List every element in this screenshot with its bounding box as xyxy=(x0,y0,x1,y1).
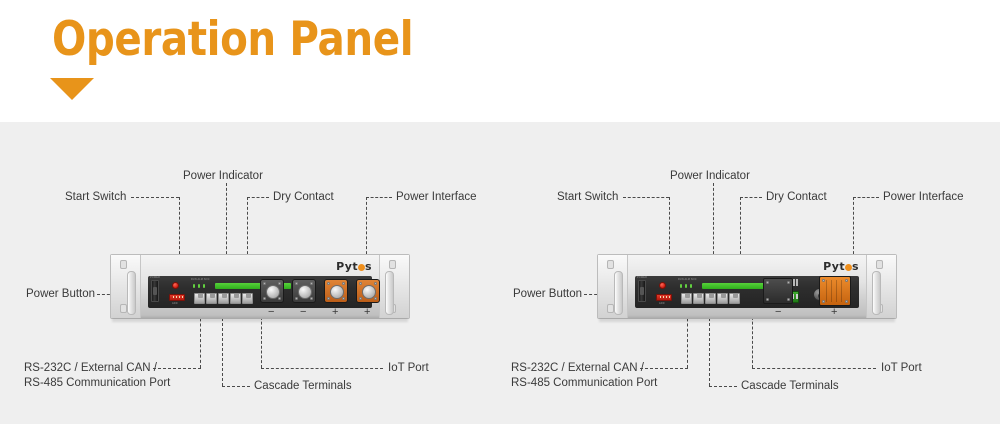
leader-power-indicator-v xyxy=(713,183,714,259)
micro-label-address: ADD xyxy=(659,302,665,305)
ear-hole-bottom xyxy=(120,304,127,313)
polarity-mark-1: − xyxy=(775,306,781,318)
ear-hole-top xyxy=(607,260,614,269)
leader-dry-contact xyxy=(740,197,762,198)
label-power-button: Power Button xyxy=(513,287,582,301)
micro-label-status: RUN ALM SOC xyxy=(678,278,697,281)
triangle-down-icon xyxy=(50,78,94,100)
operation-panel-page: Operation Panel Start Switch Power Indic… xyxy=(0,0,1000,424)
leader-power-interface xyxy=(366,197,392,198)
micro-label-address: ADD xyxy=(172,302,178,305)
start-switch[interactable] xyxy=(172,282,179,289)
communication-port-group[interactable] xyxy=(681,293,740,304)
leader-comm-port xyxy=(153,368,201,369)
power-terminal-positive-2[interactable] xyxy=(356,279,380,303)
label-cascade-terminals: Cascade Terminals xyxy=(741,379,839,393)
leader-power-indicator-v xyxy=(226,183,227,259)
power-button[interactable] xyxy=(638,280,646,302)
leader-power-interface-v xyxy=(853,197,854,259)
device-chassis-left: Pyts POWER RUN ALM SOC xyxy=(110,254,410,319)
rack-ear-left xyxy=(111,255,141,318)
label-dry-contact: Dry Contact xyxy=(273,190,334,204)
rj45-rs485-port[interactable] xyxy=(705,293,716,304)
diagram-area: Start Switch Power Indicator Dry Contact… xyxy=(0,122,1000,424)
label-start-switch: Start Switch xyxy=(557,190,618,204)
chassis-shadow xyxy=(599,317,895,322)
start-switch[interactable] xyxy=(659,282,666,289)
leader-start-switch-v xyxy=(669,197,670,259)
polarity-mark-1: − xyxy=(268,306,274,318)
leader-dry-contact-v xyxy=(740,197,741,259)
led-alarm-icon xyxy=(685,284,687,288)
brand-logo: Pyts xyxy=(336,260,372,273)
label-comm-port-line2: RS-485 Communication Port xyxy=(511,376,657,391)
power-terminal-positive-1[interactable] xyxy=(324,279,348,303)
micro-label-power: POWER xyxy=(637,276,647,279)
rj45-tx-port[interactable] xyxy=(693,293,704,304)
cascade-terminal-negative-1[interactable] xyxy=(260,279,284,303)
ear-hole-top xyxy=(120,260,127,269)
leader-start-switch-v xyxy=(179,197,180,259)
label-iot-port: IoT Port xyxy=(881,361,922,375)
rj45-int-port[interactable] xyxy=(230,293,241,304)
label-power-button: Power Button xyxy=(26,287,95,301)
leader-dry-contact-v xyxy=(247,197,248,259)
rj45-console-port[interactable] xyxy=(194,293,205,304)
cascade-terminal-negative-2[interactable] xyxy=(292,279,316,303)
brand-text: Pyt xyxy=(336,260,358,273)
cascade-terminal-negative[interactable] xyxy=(763,278,793,304)
polarity-mark-4: + xyxy=(364,306,370,318)
rack-handle-right[interactable] xyxy=(872,271,881,315)
brand-text: Pyt xyxy=(823,260,845,273)
power-rocker xyxy=(153,287,157,295)
leader-comm-port xyxy=(640,368,688,369)
led-run-icon xyxy=(193,284,195,288)
address-dip-switch[interactable] xyxy=(656,294,672,301)
label-iot-port: IoT Port xyxy=(388,361,429,375)
rj45-rs485-port[interactable] xyxy=(218,293,229,304)
device-diagram-left: Start Switch Power Indicator Dry Contact… xyxy=(0,122,500,424)
ear-hole-bottom xyxy=(607,304,614,313)
communication-port-group[interactable] xyxy=(194,293,253,304)
polarity-mark-2: + xyxy=(831,306,837,318)
rack-handle-left[interactable] xyxy=(614,271,623,315)
label-power-interface: Power Interface xyxy=(883,190,964,204)
label-comm-port-line2: RS-485 Communication Port xyxy=(24,376,170,391)
led-alarm-icon xyxy=(198,284,200,288)
rack-ear-right xyxy=(379,255,409,318)
brand-text-tail: s xyxy=(852,260,859,273)
label-power-interface: Power Interface xyxy=(396,190,477,204)
device-chassis-right: Pyts POWER RUN ALM SOC ADD xyxy=(597,254,897,319)
address-dip-switch[interactable] xyxy=(169,294,185,301)
ear-hole-top xyxy=(389,260,396,269)
rj45-can-port[interactable] xyxy=(729,293,740,304)
label-comm-port-line1: RS-232C / External CAN / xyxy=(24,361,157,376)
label-power-indicator: Power Indicator xyxy=(183,169,263,183)
power-button[interactable] xyxy=(151,280,159,302)
rack-handle-left[interactable] xyxy=(127,271,136,315)
leader-power-interface-v xyxy=(366,197,367,259)
label-comm-port-line1: RS-232C / External CAN / xyxy=(511,361,644,376)
leader-cascade xyxy=(709,386,737,387)
brand-dot-icon xyxy=(358,264,365,271)
micro-label-power: POWER xyxy=(150,276,160,279)
leader-cascade xyxy=(222,386,250,387)
rack-handle-right[interactable] xyxy=(385,271,394,315)
label-dry-contact: Dry Contact xyxy=(766,190,827,204)
label-power-indicator: Power Indicator xyxy=(670,169,750,183)
brand-dot-icon xyxy=(845,264,852,271)
power-terminal-positive[interactable] xyxy=(819,276,851,306)
ear-hole-top xyxy=(876,260,883,269)
leader-start-switch xyxy=(623,197,669,198)
leader-power-interface xyxy=(853,197,879,198)
label-start-switch: Start Switch xyxy=(65,190,126,204)
brand-logo: Pyts xyxy=(823,260,859,273)
led-run-icon xyxy=(680,284,682,288)
rj45-can-port[interactable] xyxy=(242,293,253,304)
rack-ear-right xyxy=(866,255,896,318)
leader-dry-contact xyxy=(247,197,269,198)
leader-iot xyxy=(261,368,383,369)
led-soc-icon xyxy=(203,284,205,288)
polarity-mark-2: − xyxy=(300,306,306,318)
rack-ear-left xyxy=(598,255,628,318)
leader-iot xyxy=(752,368,876,369)
brand-text-tail: s xyxy=(365,260,372,273)
rj45-tx-port[interactable] xyxy=(206,293,217,304)
micro-label-status: RUN ALM SOC xyxy=(191,278,210,281)
power-rocker xyxy=(640,287,644,295)
rj45-console-port[interactable] xyxy=(681,293,692,304)
rj45-int-port[interactable] xyxy=(717,293,728,304)
page-title: Operation Panel xyxy=(52,14,413,66)
page-header: Operation Panel xyxy=(0,0,1000,122)
polarity-mark-3: + xyxy=(332,306,338,318)
device-diagram-right: Start Switch Power Indicator Dry Contact… xyxy=(500,122,1000,424)
led-soc-icon xyxy=(690,284,692,288)
label-cascade-terminals: Cascade Terminals xyxy=(254,379,352,393)
leader-start-switch xyxy=(131,197,179,198)
